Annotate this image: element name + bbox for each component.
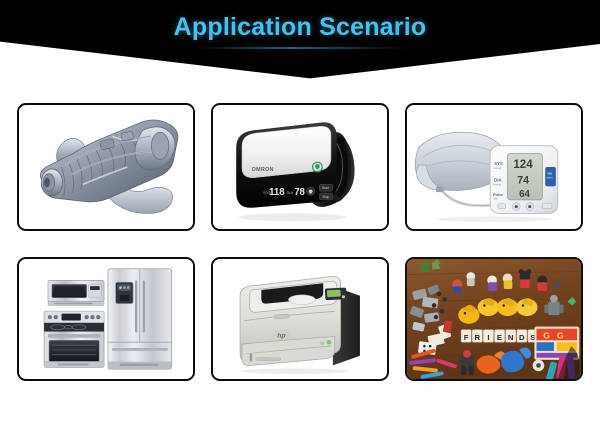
blood-pressure-monitor-white-image: 124 74 64 SYS mmHg DIA mmHg Pulse /min I… xyxy=(407,105,581,229)
svg-text:/min: /min xyxy=(493,197,498,200)
svg-text:G: G xyxy=(543,330,550,340)
svg-text:OMRON: OMRON xyxy=(252,167,274,173)
svg-text:124: 124 xyxy=(513,158,533,171)
svg-text:SYS: SYS xyxy=(494,161,503,166)
svg-text:64: 64 xyxy=(519,189,530,200)
svg-text:D: D xyxy=(519,333,525,342)
page-title: Application Scenario xyxy=(0,13,600,42)
blood-pressure-monitor-black-image: OMRON SYS 118 DIA 78 Start Stop xyxy=(213,105,387,229)
scenario-cell-aerospace-turbine-engine[interactable]: Aerospace turbine / jet engine xyxy=(17,103,195,231)
svg-text:mmHg: mmHg xyxy=(493,166,501,170)
svg-text:R: R xyxy=(474,333,480,342)
scenario-cell-omron-blood-pressure-monitor[interactable]: OMRON upper arm blood pressure monitor xyxy=(211,103,389,231)
svg-text:Start: Start xyxy=(322,186,329,190)
svg-text:F: F xyxy=(464,333,469,342)
toys-photo-image: F R I E N D S xyxy=(407,259,581,379)
svg-text:G: G xyxy=(557,330,564,340)
svg-text:IHB: IHB xyxy=(547,172,552,176)
turbine-engine-image xyxy=(19,105,193,229)
svg-text:DIA: DIA xyxy=(286,191,293,195)
scenario-cell-laser-printer[interactable]: Office laser printer xyxy=(211,257,389,381)
header-banner: Application Scenario xyxy=(0,0,600,80)
svg-text:118: 118 xyxy=(269,187,285,198)
svg-text:74: 74 xyxy=(517,174,529,186)
svg-text:DIA: DIA xyxy=(494,178,502,183)
scenario-cell-home-appliances[interactable]: Stainless steel kitchen appliances: micr… xyxy=(17,257,195,381)
svg-text:I: I xyxy=(487,333,489,342)
svg-text:hp: hp xyxy=(277,332,285,339)
svg-text:mmHg: mmHg xyxy=(493,182,501,186)
title-underline xyxy=(195,47,410,49)
home-appliances-image xyxy=(19,259,193,379)
scenario-cell-toys-friends[interactable]: Assorted toys on wooden table with lette… xyxy=(405,257,583,381)
svg-text:78: 78 xyxy=(294,187,305,198)
svg-text:E: E xyxy=(497,333,502,342)
scenario-cell-blood-pressure-monitor-cuff[interactable]: Blood pressure monitor with arm cuff xyxy=(405,103,583,231)
svg-text:N: N xyxy=(508,333,514,342)
svg-text:Pulse: Pulse xyxy=(493,193,504,197)
scenario-grid: Aerospace turbine / jet engine xyxy=(17,103,583,381)
svg-text:Stop: Stop xyxy=(322,195,329,199)
laser-printer-image: hp xyxy=(213,259,387,379)
svg-text:detect: detect xyxy=(547,177,554,180)
